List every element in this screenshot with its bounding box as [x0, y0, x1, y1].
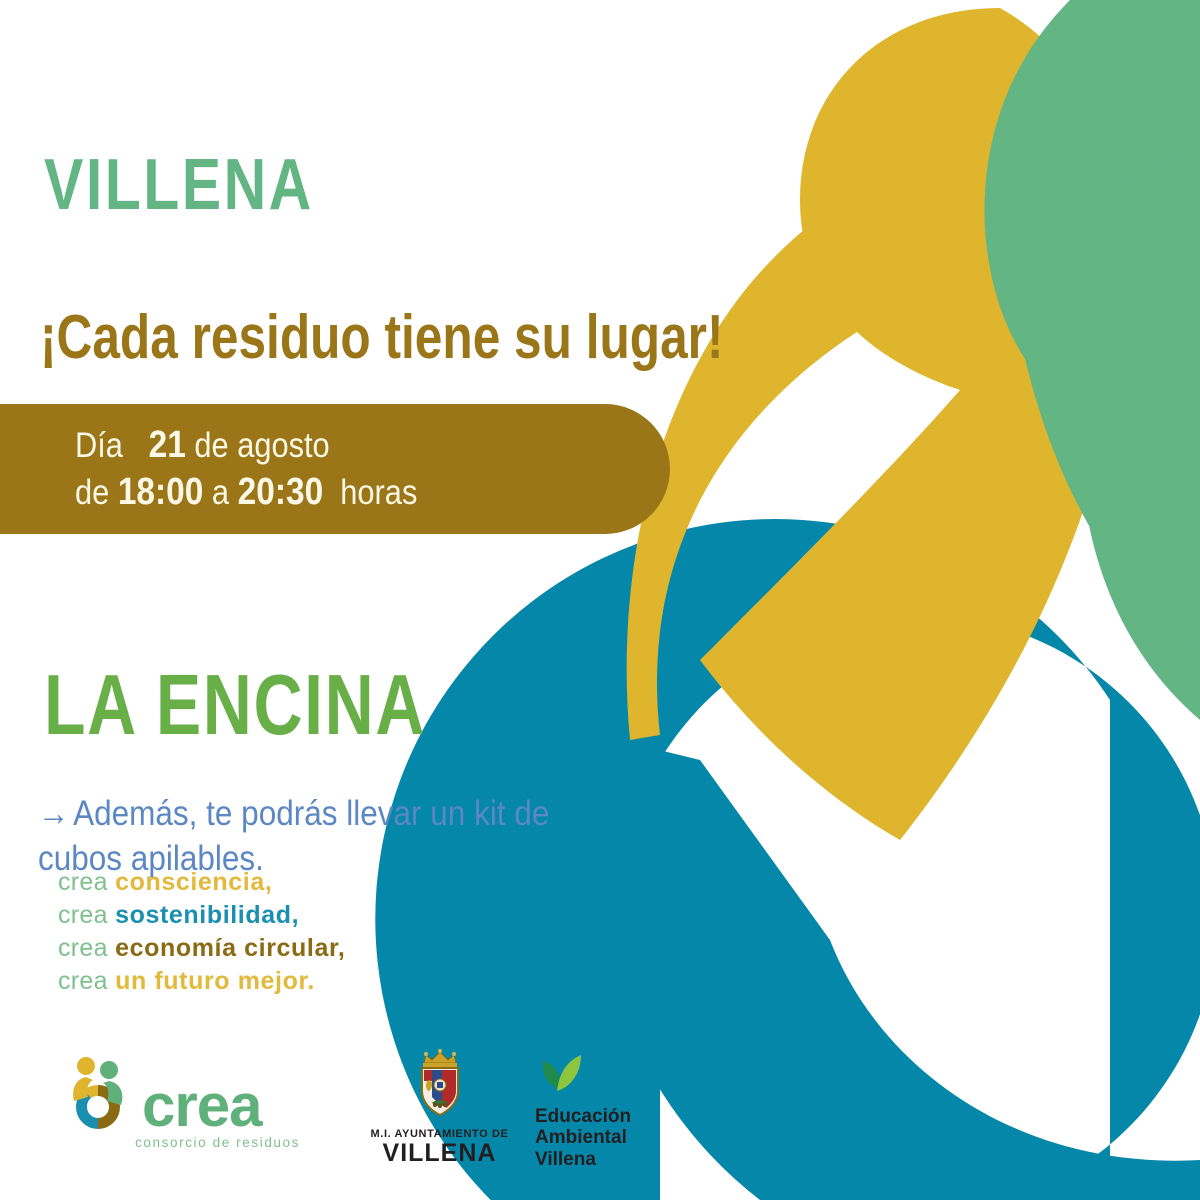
green-person-shape: [984, 0, 1200, 420]
arrow-right-icon: →: [38, 794, 68, 833]
ayuntamiento-line2: VILLENA: [352, 1140, 527, 1168]
slogan-line: crea sostenibilidad,: [58, 899, 345, 932]
time-prefix: de: [75, 473, 109, 512]
educacion-line3: Villena: [535, 1149, 685, 1170]
educacion-text: Educación Ambiental Villena: [535, 1106, 685, 1170]
time-middle: a: [212, 473, 229, 512]
date-banner: Día 21 de agosto de 18:00 a 20:30 horas: [0, 404, 670, 534]
slogan-crea: crea: [58, 868, 108, 896]
date-line-hours: de 18:00 a 20:30 horas: [75, 469, 599, 516]
villena-coat-of-arms-icon: [408, 1047, 472, 1119]
crea-tagline: consorcio de residuos: [62, 1135, 300, 1150]
date-line-day: Día 21 de agosto: [75, 422, 599, 469]
slogan-crea: crea: [58, 901, 108, 929]
slogan-word: economía circular,: [115, 934, 345, 962]
leaves-icon: [535, 1053, 597, 1097]
page-title-city: VILLENA: [44, 149, 314, 221]
content-column: VILLENA ¡Cada residuo tiene su lugar! Dí…: [0, 0, 700, 1200]
date-day-number: 21: [149, 424, 186, 466]
slogan-line: crea un futuro mejor.: [58, 965, 345, 998]
logo-educacion-ambiental: Educación Ambiental Villena: [535, 1053, 685, 1170]
time-start: 18:00: [118, 471, 204, 513]
time-suffix: horas: [340, 473, 417, 512]
claim-subtitle: ¡Cada residuo tiene su lugar!: [40, 307, 724, 369]
crea-ring-icon: [62, 1053, 136, 1131]
date-prefix: Día: [75, 426, 123, 465]
crea-wordmark: crea: [142, 1080, 261, 1131]
logo-crea: crea consorcio de residuos: [62, 1053, 302, 1150]
logo-strip: crea consorcio de residuos: [0, 1035, 700, 1200]
poster-canvas: VILLENA ¡Cada residuo tiene su lugar! Dí…: [0, 0, 1200, 1200]
page-title-place: LA ENCINA: [44, 663, 426, 748]
yellow-arc-segment: [627, 145, 1160, 740]
slogan-block: crea consciencia, crea sostenibilidad, c…: [58, 866, 345, 998]
slogan-line: crea economía circular,: [58, 932, 345, 965]
slogan-crea: crea: [58, 967, 108, 995]
blue-ring-lower: [616, 740, 1200, 1200]
slogan-word: un futuro mejor.: [115, 967, 315, 995]
educacion-line2: Ambiental: [535, 1127, 685, 1148]
green-wedge-fill: [1010, 150, 1200, 650]
date-month: de agosto: [194, 426, 329, 465]
logo-ayuntamiento: M.I. AYUNTAMIENTO DE VILLENA: [352, 1047, 527, 1168]
yellow-person-shape: [700, 8, 1130, 840]
slogan-crea: crea: [58, 934, 108, 962]
slogan-line: crea consciencia,: [58, 866, 345, 899]
slogan-word: sostenibilidad,: [115, 901, 299, 929]
time-end: 20:30: [238, 471, 324, 513]
green-body-mass: [1080, 120, 1200, 720]
slogan-word: consciencia,: [115, 868, 272, 896]
educacion-line1: Educación: [535, 1106, 685, 1127]
